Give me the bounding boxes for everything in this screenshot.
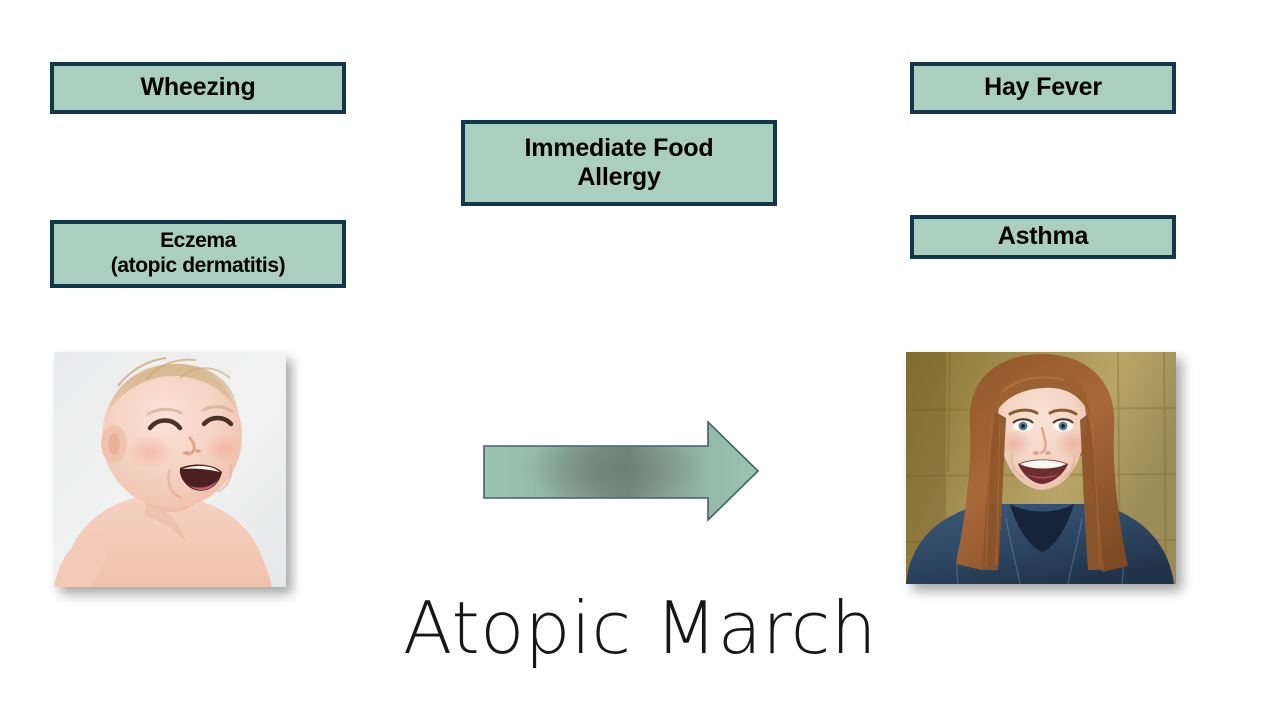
- condition-box-wheezing[interactable]: Wheezing: [50, 62, 346, 114]
- condition-box-eczema-label: Eczema (atopic dermatitis): [111, 229, 285, 279]
- condition-box-hay-fever[interactable]: Hay Fever: [910, 62, 1176, 114]
- slide-canvas: Wheezing Eczema (atopic dermatitis) Imme…: [0, 0, 1280, 720]
- progression-arrow: [480, 416, 762, 526]
- condition-box-immediate-food-allergy-label: Immediate Food Allergy: [525, 134, 714, 193]
- smiling-infant-photo: [54, 352, 286, 587]
- page-title: Atopic March: [0, 592, 1280, 664]
- condition-box-hay-fever-label: Hay Fever: [984, 73, 1102, 103]
- condition-box-immediate-food-allergy[interactable]: Immediate Food Allergy: [461, 120, 777, 206]
- condition-box-asthma[interactable]: Asthma: [910, 215, 1176, 259]
- condition-box-wheezing-label: Wheezing: [140, 73, 255, 103]
- smiling-adult-woman-photo: [906, 352, 1176, 584]
- condition-box-asthma-label: Asthma: [998, 222, 1089, 252]
- condition-box-eczema[interactable]: Eczema (atopic dermatitis): [50, 220, 346, 288]
